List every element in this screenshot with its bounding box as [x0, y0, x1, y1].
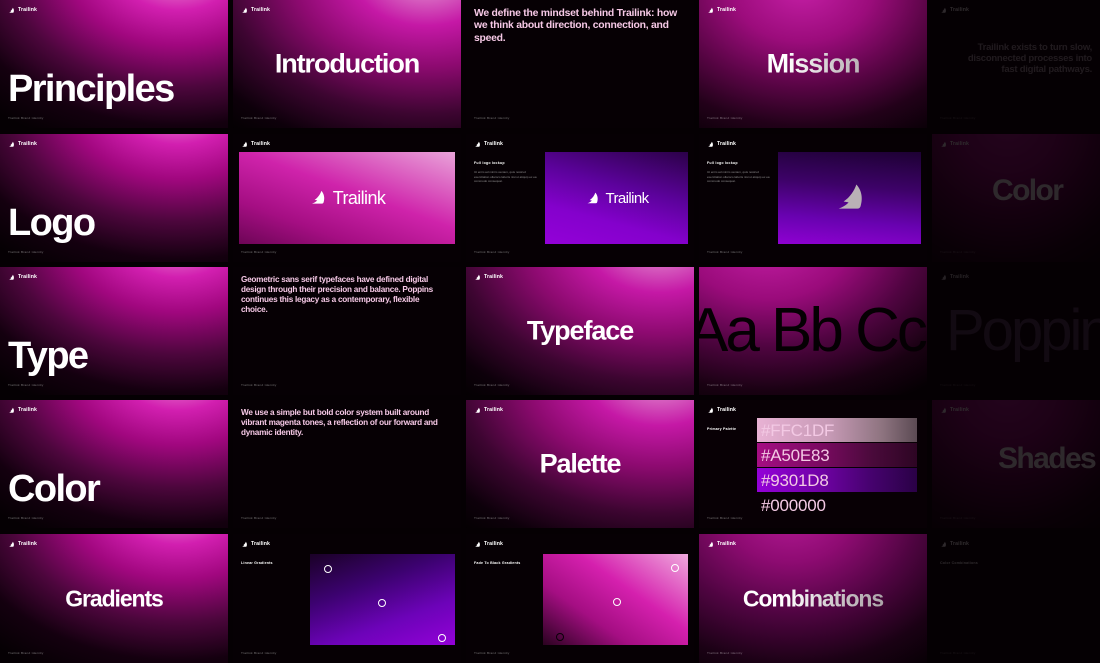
trailink-swoosh-icon [940, 7, 947, 14]
slide-footer: Trailink Brand Identity [940, 116, 976, 120]
slide-background [932, 534, 1100, 663]
brand-logo: Trailink [241, 7, 270, 14]
trailink-swoosh-icon [474, 141, 481, 148]
slide-footer: Trailink Brand Identity [8, 651, 44, 655]
slide-poppins-ghost[interactable]: Trailink Poppins Trailink Brand Identity [932, 267, 1100, 395]
slide-title: Palette [466, 451, 694, 478]
slide-mission-statement[interactable]: Trailink Trailink exists to turn slow, d… [932, 0, 1100, 128]
brand-logo: Trailink [707, 7, 736, 14]
slide-combinations[interactable]: Trailink Combinations Trailink Brand Ide… [699, 534, 927, 663]
detail-body: Ut enim ad minim veniam, quis nostrud ex… [707, 170, 771, 184]
specimen-sample: Aa Bb Cc [699, 300, 925, 362]
brand-wordmark: Trailink [484, 142, 503, 147]
slide-title: Shades [998, 444, 1095, 474]
slide-palette[interactable]: Trailink Palette Trailink Brand Identity [466, 400, 694, 528]
trailink-swoosh-icon [474, 274, 481, 281]
slide-footer: Trailink Brand Identity [474, 516, 510, 520]
trailink-swoosh-icon [940, 141, 947, 148]
detail-label: Fade To Black Gradients [474, 561, 520, 565]
brand-logo: Trailink [940, 541, 969, 548]
swatch-hex-label: #FFC1DF [757, 422, 834, 439]
brand-wordmark: Trailink [950, 142, 969, 147]
brand-logo: Trailink [940, 407, 969, 414]
detail-label: Primary Palette [707, 427, 736, 431]
slide-footer: Trailink Brand Identity [707, 651, 743, 655]
slide-footer: Trailink Brand Identity [8, 516, 44, 520]
palette-swatch-list: #FFC1DF #A50E83 #9301D8 #000000 [757, 418, 917, 518]
slide-footer: Trailink Brand Identity [707, 383, 743, 387]
brand-wordmark: Trailink [717, 8, 736, 13]
slide-typeface[interactable]: Trailink Typeface Trailink Brand Identit… [466, 267, 694, 395]
slide-footer: Trailink Brand Identity [940, 516, 976, 520]
logo-lockup: Trailink [239, 152, 455, 244]
trailink-swoosh-icon [241, 541, 248, 548]
specimen-sample: Poppins [946, 302, 1100, 360]
brand-logo: Trailink [940, 274, 969, 281]
logo-mark-only [778, 152, 921, 244]
logo-mark-card [778, 152, 921, 244]
brand-wordmark: Trailink [484, 408, 503, 413]
slide-footer: Trailink Brand Identity [474, 651, 510, 655]
logo-showcase-card: Trailink [545, 152, 688, 244]
slide-type-statement[interactable]: Geometric sans serif typefaces have defi… [233, 267, 461, 395]
slide-linear-gradients[interactable]: Trailink Linear Gradients Trailink Brand… [233, 534, 461, 663]
slide-footer: Trailink Brand Identity [8, 383, 44, 387]
gradient-stop-handle[interactable] [556, 633, 564, 641]
brand-wordmark: Trailink [18, 542, 37, 547]
slide-gradients[interactable]: Trailink Gradients Trailink Brand Identi… [0, 534, 228, 663]
brand-wordmark: Trailink [950, 275, 969, 280]
gradient-stop-handle[interactable] [613, 598, 621, 606]
brand-wordmark: Trailink [251, 542, 270, 547]
brand-logo: Trailink [707, 541, 736, 548]
brand-logo: Trailink [474, 141, 503, 148]
swatch-hex-label: #A50E83 [757, 447, 830, 464]
slide-footer: Trailink Brand Identity [241, 383, 277, 387]
slide-logo-primary[interactable]: Trailink Trailink Trailink Brand Identit… [233, 134, 461, 262]
statement-text: Trailink exists to turn slow, disconnect… [952, 42, 1092, 76]
brand-logo: Trailink [940, 7, 969, 14]
slide-footer: Trailink Brand Identity [474, 383, 510, 387]
brand-logo: Trailink [241, 141, 270, 148]
detail-label: Full logo lockup [707, 161, 738, 165]
detail-body: Ut enim ad minim veniam, quis nostrud ex… [474, 170, 538, 184]
slide-footer: Trailink Brand Identity [8, 116, 44, 120]
logo-showcase-card: Trailink [239, 152, 455, 244]
trailink-swoosh-icon [241, 7, 248, 14]
slide-footer: Trailink Brand Identity [8, 250, 44, 254]
trailink-swoosh-icon [8, 7, 15, 14]
slide-footer: Trailink Brand Identity [241, 250, 277, 254]
brand-logo: Trailink [707, 141, 736, 148]
statement-text: We use a simple but bold color system bu… [241, 408, 447, 438]
slide-footer: Trailink Brand Identity [474, 116, 510, 120]
slide-logo-lockup[interactable]: Trailink Full logo lockup Ut enim ad min… [466, 134, 694, 262]
gradient-demo-card [310, 554, 455, 645]
trailink-swoosh-icon [474, 407, 481, 414]
logo-lockup-text: Trailink [333, 188, 386, 209]
trailink-swoosh-icon [940, 274, 947, 281]
slide-color-section[interactable]: Trailink Color Trailink Brand Identity [0, 400, 228, 528]
trailink-swoosh-icon [309, 189, 327, 207]
brand-wordmark: Trailink [18, 408, 37, 413]
brand-wordmark: Trailink [717, 408, 736, 413]
slide-mission[interactable]: Trailink Mission Trailink Brand Identity [699, 0, 927, 128]
slide-type-section[interactable]: Trailink Type Trailink Brand Identity [0, 267, 228, 395]
slide-principles[interactable]: Trailink Principles Trailink Brand Ident… [0, 0, 228, 128]
brand-wordmark: Trailink [484, 542, 503, 547]
slide-palette-swatches[interactable]: Trailink Primary Palette #FFC1DF #A50E83… [699, 400, 927, 528]
brand-logo: Trailink [8, 7, 37, 14]
swatch-hex-label: #000000 [757, 497, 826, 514]
slide-title: Gradients [0, 587, 228, 610]
brand-wordmark: Trailink [717, 142, 736, 147]
slide-footer: Trailink Brand Identity [707, 116, 743, 120]
slide-title: Typeface [466, 318, 694, 345]
trailink-swoosh-icon [8, 274, 15, 281]
trailink-swoosh-icon [707, 407, 714, 414]
gradient-stop-handle[interactable] [378, 599, 386, 607]
palette-swatch[interactable]: #9301D8 [757, 468, 917, 492]
trailink-swoosh-icon [8, 407, 15, 414]
slide-shades-ghost[interactable]: Trailink Shades Trailink Brand Identity [932, 400, 1100, 528]
swatch-hex-label: #9301D8 [757, 472, 829, 489]
slide-title: Principles [8, 70, 174, 108]
trailink-swoosh-icon [8, 541, 15, 548]
slide-logo-section[interactable]: Trailink Logo Trailink Brand Identity [0, 134, 228, 262]
logo-lockup: Trailink [545, 152, 688, 244]
brand-wordmark: Trailink [18, 275, 37, 280]
trailink-swoosh-icon [707, 541, 714, 548]
slide-footer: Trailink Brand Identity [474, 250, 510, 254]
brand-logo: Trailink [8, 274, 37, 281]
slide-title: Color [992, 176, 1062, 206]
gradient-stop-handle[interactable] [438, 634, 446, 642]
trailink-swoosh-icon [8, 141, 15, 148]
slide-logo-mark[interactable]: Trailink Full logo lockup Ut enim ad min… [699, 134, 927, 262]
slide-footer: Trailink Brand Identity [241, 651, 277, 655]
detail-label: Color Combinations [940, 561, 978, 565]
brand-wordmark: Trailink [18, 142, 37, 147]
brand-wordmark: Trailink [251, 142, 270, 147]
brand-logo: Trailink [8, 541, 37, 548]
slide-title: Type [8, 337, 87, 375]
palette-swatch[interactable]: #000000 [757, 493, 917, 517]
slide-deck-board: Trailink Principles Trailink Brand Ident… [0, 0, 1100, 663]
brand-wordmark: Trailink [950, 542, 969, 547]
trailink-swoosh-icon [707, 7, 714, 14]
slide-title: Logo [8, 204, 94, 242]
brand-wordmark: Trailink [251, 8, 270, 13]
slide-footer: Trailink Brand Identity [241, 116, 277, 120]
trailink-swoosh-icon [940, 407, 947, 414]
trailink-swoosh-icon [707, 141, 714, 148]
trailink-swoosh-icon [940, 541, 947, 548]
brand-wordmark: Trailink [717, 542, 736, 547]
slide-footer: Trailink Brand Identity [707, 516, 743, 520]
slide-footer: Trailink Brand Identity [707, 250, 743, 254]
slide-footer: Trailink Brand Identity [940, 651, 976, 655]
brand-logo: Trailink [8, 407, 37, 414]
detail-label: Linear Gradients [241, 561, 273, 565]
brand-wordmark: Trailink [18, 8, 37, 13]
slide-type-specimen[interactable]: Aa Bb Cc Trailink Brand Identity [699, 267, 927, 395]
trailink-swoosh-icon [833, 181, 867, 215]
gradient-stop-handle[interactable] [671, 564, 679, 572]
brand-wordmark: Trailink [484, 275, 503, 280]
brand-wordmark: Trailink [950, 8, 969, 13]
slide-title: Mission [699, 51, 927, 78]
slide-title: Color [8, 470, 99, 508]
slide-color-statement[interactable]: We use a simple but bold color system bu… [233, 400, 461, 528]
palette-swatch[interactable]: #FFC1DF [757, 418, 917, 442]
palette-swatch[interactable]: #A50E83 [757, 443, 917, 467]
slide-footer: Trailink Brand Identity [241, 516, 277, 520]
slide-color-combinations-ghost[interactable]: Trailink Color Combinations Trailink Bra… [932, 534, 1100, 663]
gradient-stop-handle[interactable] [324, 565, 332, 573]
brand-logo: Trailink [8, 141, 37, 148]
brand-logo: Trailink [474, 541, 503, 548]
statement-text: Geometric sans serif typefaces have defi… [241, 275, 447, 314]
gradient-demo-card [543, 554, 688, 645]
slide-introduction[interactable]: Trailink Introduction Trailink Brand Ide… [233, 0, 461, 128]
trailink-swoosh-icon [585, 191, 600, 206]
trailink-swoosh-icon [241, 141, 248, 148]
brand-logo: Trailink [940, 141, 969, 148]
statement-text: We define the mindset behind Trailink: h… [474, 8, 680, 45]
slide-title: Introduction [233, 51, 461, 78]
brand-logo: Trailink [707, 407, 736, 414]
slide-footer: Trailink Brand Identity [940, 250, 976, 254]
slide-color-ghost[interactable]: Trailink Color Trailink Brand Identity [932, 134, 1100, 262]
slide-title: Combinations [699, 587, 927, 610]
detail-label: Full logo lockup [474, 161, 505, 165]
slide-fade-to-black[interactable]: Trailink Fade To Black Gradients Trailin… [466, 534, 694, 663]
brand-logo: Trailink [241, 541, 270, 548]
logo-lockup-text: Trailink [606, 190, 649, 207]
slide-intro-statement[interactable]: We define the mindset behind Trailink: h… [466, 0, 694, 128]
brand-logo: Trailink [474, 407, 503, 414]
brand-logo: Trailink [474, 274, 503, 281]
slide-footer: Trailink Brand Identity [940, 383, 976, 387]
brand-wordmark: Trailink [950, 408, 969, 413]
trailink-swoosh-icon [474, 541, 481, 548]
